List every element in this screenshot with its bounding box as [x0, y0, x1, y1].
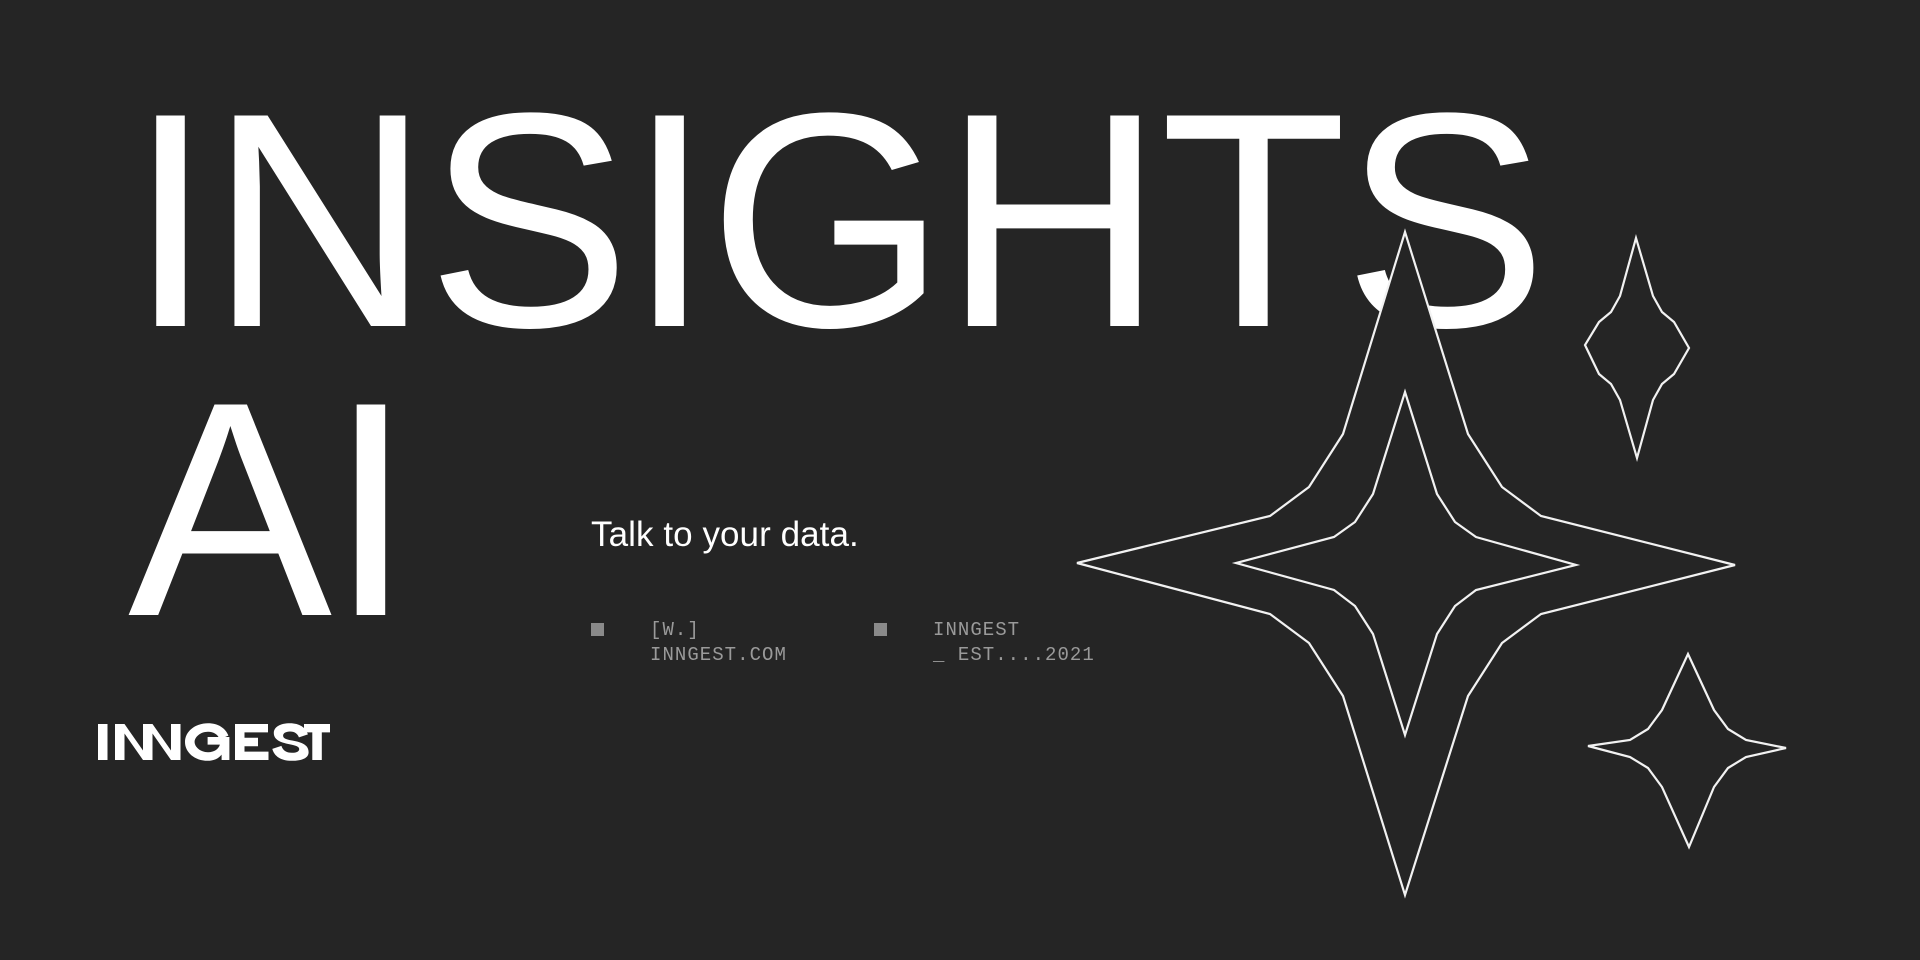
star-small-bottom-right: [1588, 654, 1786, 847]
meta-item-website: [W.]INNGEST.COM: [591, 618, 874, 668]
meta-item-established: INNGEST_ EST....2021: [874, 618, 1095, 668]
star-large-outer: [1077, 232, 1735, 895]
inngest-logo: INNGEST: [98, 718, 330, 766]
decorative-stars-layer: [0, 0, 1920, 960]
square-bullet-icon: [591, 623, 604, 636]
tagline: Talk to your data.: [591, 515, 859, 555]
meta-website-line1: [W.]: [650, 619, 700, 641]
inngest-wordmark-icon: [98, 718, 330, 766]
star-small-top-right: [1585, 238, 1689, 458]
poster-canvas: INSIGHTS AI Talk to your data. [W.]INNGE…: [0, 0, 1920, 960]
meta-website-line2: INNGEST.COM: [650, 643, 787, 668]
star-large-inner: [1236, 392, 1576, 735]
page-title: INSIGHTS AI: [128, 76, 1528, 654]
meta-row: [W.]INNGEST.COM INNGEST_ EST....2021: [591, 618, 1095, 668]
headline-line-2: AI: [128, 365, 1528, 654]
square-bullet-icon: [874, 623, 887, 636]
inngest-e-dot-icon: [247, 738, 254, 745]
meta-website-text: [W.]INNGEST.COM: [650, 618, 787, 668]
headline-line-1: INSIGHTS: [128, 76, 1528, 365]
meta-established-text: INNGEST_ EST....2021: [933, 618, 1095, 668]
meta-established-line1: INNGEST: [933, 619, 1020, 641]
meta-established-line2: _ EST....2021: [933, 643, 1095, 668]
